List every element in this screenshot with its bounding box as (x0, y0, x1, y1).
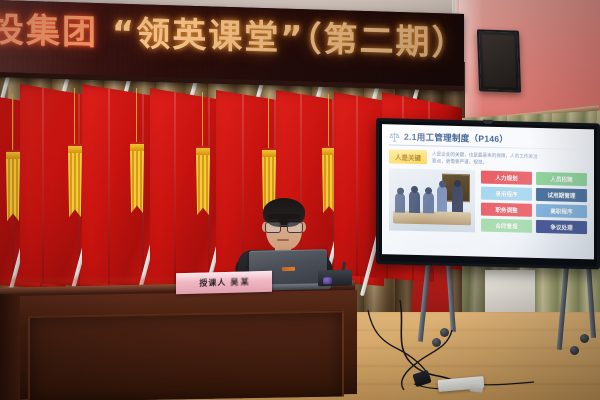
flag-tassel (196, 155, 210, 215)
flag-tassel (68, 153, 82, 217)
slide-chip-人力规划: 人力规划 (481, 171, 532, 185)
flag-tassel (6, 159, 20, 221)
scale-icon (389, 131, 400, 142)
wall-monitor-screen (482, 34, 516, 87)
glasses-bridge (279, 225, 287, 226)
tassel-cord (328, 94, 329, 148)
floor-cables (0, 300, 600, 400)
slide-chip-试用期管理: 试用期管理 (536, 188, 587, 202)
photo-person-standing (437, 186, 447, 212)
banner-surface: 投集团 “领英课堂”（第二期） (0, 0, 464, 86)
glasses-icon (287, 222, 303, 233)
slide-title: 2.1用工管理制度（P146） (404, 131, 508, 146)
nameplate-label: 授课人 (199, 277, 226, 289)
photo-scene: 投集团 “领英课堂”（第二期） (0, 0, 600, 400)
slide-button-grid: 人力规划 人员招聘 录用程序 试用期管理 职务调整 离职程序 合同管理 争议处理 (481, 171, 587, 236)
slide-body-text: 人是企业的关键，也是最基本的保障，人的工作关注要点，更需要严谨、规范。 (432, 150, 542, 167)
presenter-eyebrow-left (266, 219, 278, 221)
presenter-nameplate: 授课人 吴 某 (176, 271, 272, 295)
tassel-cord (74, 88, 75, 146)
tassel-cord (202, 92, 203, 148)
slide-chip-人员招聘: 人员招聘 (536, 172, 587, 186)
slide-badge-row: 人是关键 人是企业的关键，也是最基本的保障，人的工作关注要点，更需要严谨、规范。 (389, 149, 587, 168)
photo-person-standing (452, 185, 463, 212)
desk-device[interactable] (318, 262, 352, 289)
presenter-mouth (277, 239, 289, 241)
display-panel: 2.1用工管理制度（P146） 人是关键 人是企业的关键，也是最基本的保障，人的… (382, 124, 594, 259)
device-lens-icon (323, 277, 332, 284)
banner-shading (0, 0, 464, 86)
tassel-cord (12, 94, 13, 152)
tassel-cord (268, 94, 269, 150)
slide-main: 人力规划 人员招聘 录用程序 试用期管理 职务调整 离职程序 合同管理 争议处理 (389, 169, 587, 236)
slide-content: 2.1用工管理制度（P146） 人是关键 人是企业的关键，也是最基本的保障，人的… (382, 124, 594, 259)
slide-chip-职务调整: 职务调整 (481, 203, 532, 217)
photo-person (409, 191, 420, 213)
slide-photo (389, 169, 475, 233)
cable-plug-secondary (470, 381, 484, 392)
laptop-logo (282, 267, 295, 271)
slide-chip-争议处理: 争议处理 (536, 220, 587, 234)
display-screen[interactable]: 2.1用工管理制度（P146） 人是关键 人是企业的关键，也是最基本的保障，人的… (376, 118, 600, 269)
wall-monitor (477, 29, 521, 92)
photo-person (395, 193, 405, 213)
photo-person (423, 192, 434, 213)
slide-chip-离职程序: 离职程序 (536, 204, 587, 218)
tassel-cord (136, 88, 137, 144)
banner-frame: 投集团 “领英课堂”（第二期） (0, 0, 464, 91)
presenter-eyebrow-right (288, 219, 300, 221)
slide-chip-录用程序: 录用程序 (481, 187, 532, 201)
flag-tassel (130, 151, 144, 213)
glasses-icon (265, 222, 281, 233)
slide-chip-合同管理: 合同管理 (481, 219, 532, 233)
display-camera (483, 120, 493, 124)
nameplate-name: 吴 某 (230, 276, 248, 287)
slide-badge: 人是关键 (389, 149, 427, 164)
